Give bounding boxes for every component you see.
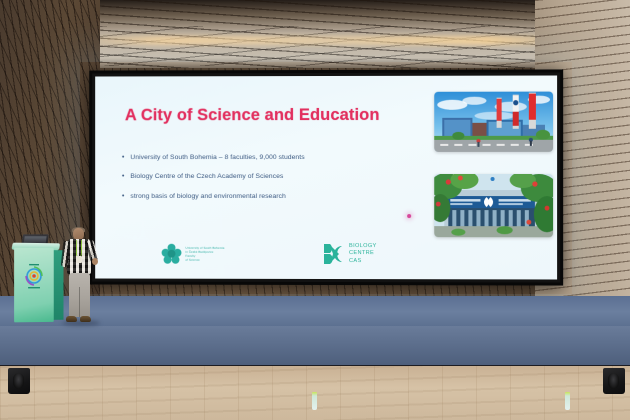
- list-item: • strong basis of biology and environmen…: [122, 193, 411, 202]
- biology-centre-logo-line: CAS: [349, 258, 377, 265]
- conference-hall-scene: A City of Science and Education • Univer…: [0, 0, 630, 420]
- bullet-text: University of South Bohemia – 8 facultie…: [130, 154, 304, 162]
- stage-platform-front: [0, 326, 630, 366]
- biology-centre-cas-logo: BIOLOGY CENTRE CAS: [322, 242, 377, 266]
- slide-canvas: A City of Science and Education • Univer…: [95, 75, 557, 279]
- water-bottle: [312, 392, 317, 410]
- list-item: • Biology Centre of the Czech Academy of…: [122, 173, 411, 181]
- institute-entrance-photo: [434, 174, 553, 237]
- bullet-text: strong basis of biology and environmenta…: [130, 193, 285, 201]
- biology-centre-logo-line: BIOLOGY: [349, 243, 377, 250]
- pink-dot-decoration: [407, 214, 411, 218]
- presenter-badge: [76, 256, 82, 263]
- bullet-marker-icon: •: [122, 173, 124, 181]
- presenter-shoe: [80, 316, 91, 322]
- stage-monitor-speaker-left: [8, 368, 30, 394]
- bullet-text: Biology Centre of the Czech Academy of S…: [130, 173, 283, 181]
- bullet-marker-icon: •: [122, 193, 124, 201]
- presenter-hand: [92, 258, 98, 265]
- list-item: • University of South Bohemia – 8 facult…: [122, 154, 411, 162]
- presentation-screen: A City of Science and Education • Univer…: [89, 69, 563, 285]
- stage-monitor-speaker-right: [603, 368, 625, 394]
- flower-icon: [162, 244, 182, 264]
- university-logo-line: of Science: [185, 258, 224, 262]
- ceiling-light-strip: [70, 36, 580, 45]
- slide-title: A City of Science and Education: [125, 106, 380, 125]
- presenter-lanyard: [76, 240, 82, 257]
- university-of-south-bohemia-logo: University of South Bohemia in České Bud…: [162, 244, 225, 264]
- ceiling-slats: [60, 0, 590, 68]
- campus-banners-photo: [434, 92, 553, 152]
- biology-centre-mark-icon: [322, 242, 344, 266]
- slide-logo-row: University of South Bohemia in České Bud…: [95, 242, 557, 279]
- bullet-marker-icon: •: [122, 154, 124, 162]
- biology-centre-logo-text: BIOLOGY CENTRE CAS: [349, 243, 377, 265]
- lectern: [14, 248, 63, 323]
- university-logo-text: University of South Bohemia in České Bud…: [185, 246, 224, 262]
- presenter: [60, 228, 100, 326]
- presenter-shoe: [66, 316, 77, 322]
- biology-centre-logo-line: CENTRE: [349, 250, 377, 257]
- conference-emblem-icon: [24, 261, 44, 291]
- presenter-trousers: [69, 273, 90, 317]
- slide-bullet-list: • University of South Bohemia – 8 facult…: [122, 154, 411, 212]
- lectern-front-panel: [14, 248, 54, 323]
- water-bottle: [565, 392, 570, 410]
